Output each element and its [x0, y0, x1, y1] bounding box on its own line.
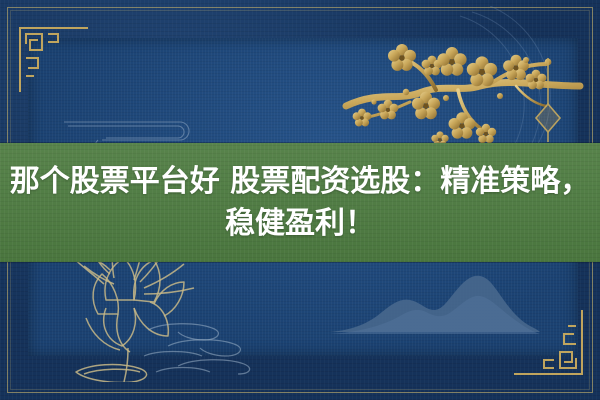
title-band: 那个股票平台好 股票配资选股：精准策略，稳健盈利！	[0, 143, 600, 262]
banner-image: 那个股票平台好 股票配资选股：精准策略，稳健盈利！	[0, 0, 600, 400]
page-title: 那个股票平台好 股票配资选股：精准策略，稳健盈利！	[7, 161, 593, 245]
